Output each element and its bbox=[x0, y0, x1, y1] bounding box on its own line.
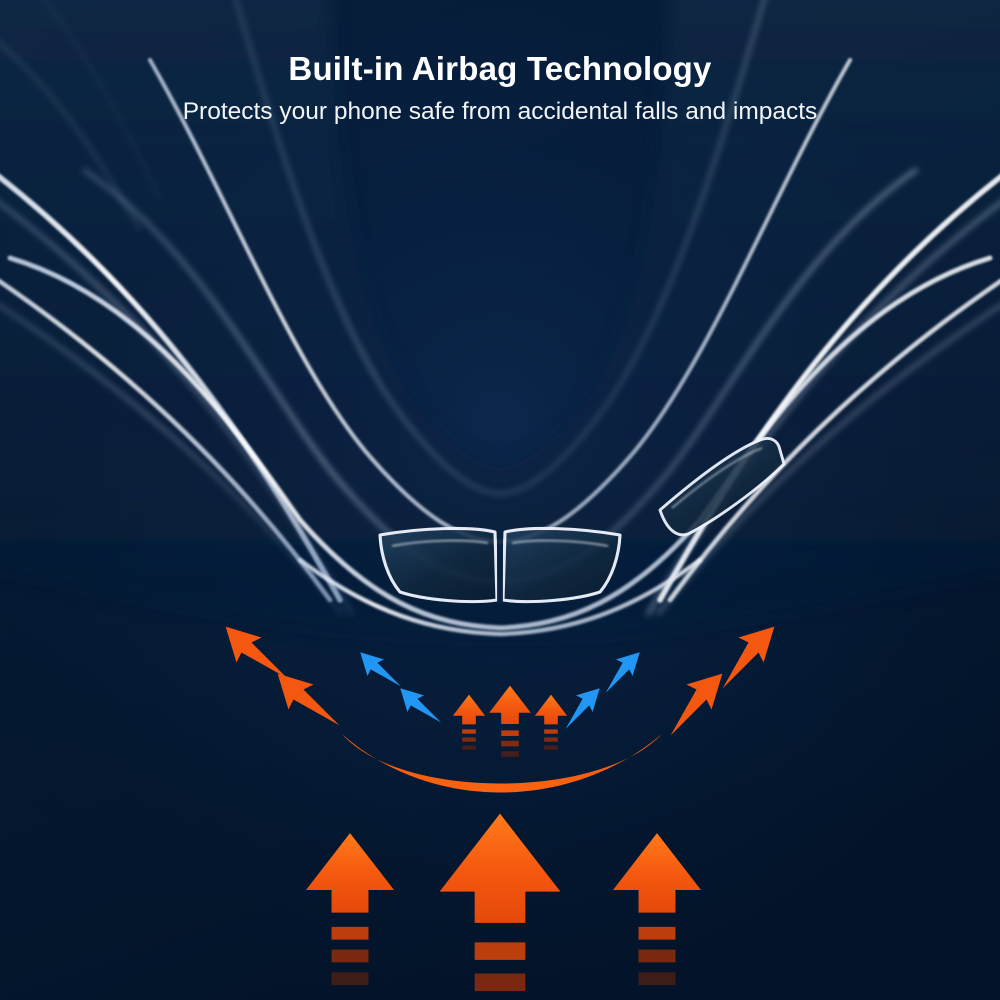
product-feature-banner: Built-in Airbag Technology Protects your… bbox=[0, 0, 1000, 1000]
airbag-pad-bottom-right-body bbox=[503, 528, 620, 601]
artboard bbox=[0, 0, 1000, 1000]
airbag-pad-bottom-right bbox=[503, 528, 620, 601]
airbag-pad-bottom-left bbox=[380, 528, 497, 601]
airbag-pad-bottom-left-body bbox=[380, 528, 497, 601]
